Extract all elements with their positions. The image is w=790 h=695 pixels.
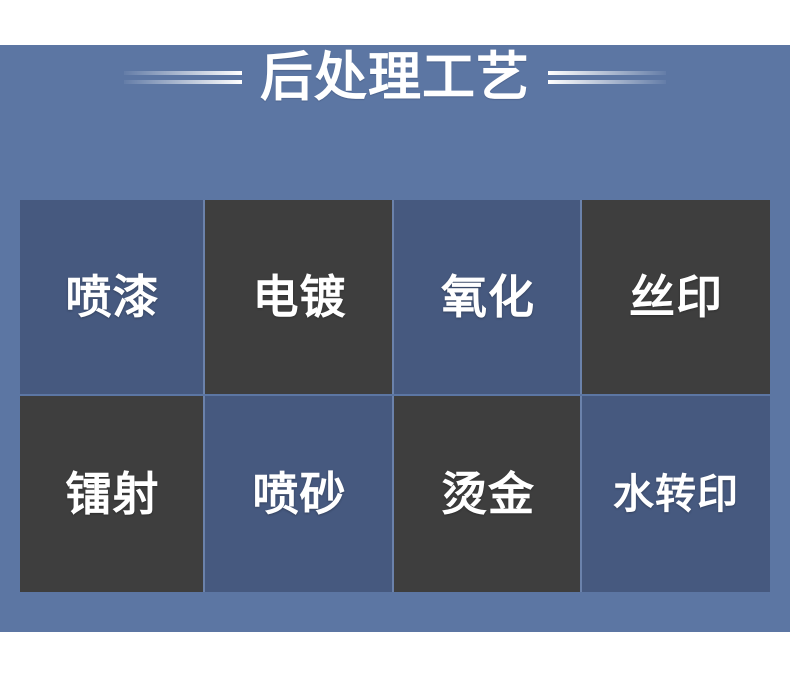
rule-line-top xyxy=(124,71,242,75)
process-tile[interactable]: 水转印 xyxy=(582,396,770,592)
process-tile-label: 喷漆 xyxy=(66,274,160,320)
process-tile[interactable]: 镭射 xyxy=(20,396,205,592)
poster-root: 后处理工艺 喷漆 电镀 氧化 丝印 镭射 喷砂 烫金 水转印 xyxy=(0,0,790,695)
header-banner: 后处理工艺 xyxy=(0,0,790,155)
process-tile-label: 水转印 xyxy=(613,474,739,515)
rule-line-top xyxy=(548,71,666,75)
double-line-right-icon xyxy=(548,69,666,87)
process-tile-label: 镭射 xyxy=(66,471,160,517)
process-tile[interactable]: 喷砂 xyxy=(205,396,394,592)
process-tile[interactable]: 烫金 xyxy=(394,396,582,592)
process-tile[interactable]: 喷漆 xyxy=(20,200,205,394)
process-tile-label: 电镀 xyxy=(253,274,347,320)
process-tile[interactable]: 电镀 xyxy=(205,200,394,394)
process-tile-label: 丝印 xyxy=(629,274,723,320)
process-tile-label: 喷砂 xyxy=(253,471,347,517)
process-tile[interactable]: 丝印 xyxy=(582,200,770,394)
process-tile[interactable]: 氧化 xyxy=(394,200,582,394)
process-tile-grid: 喷漆 电镀 氧化 丝印 镭射 喷砂 烫金 水转印 xyxy=(20,200,770,592)
page-title: 后处理工艺 xyxy=(260,51,530,104)
double-line-left-icon xyxy=(124,69,242,87)
process-tile-label: 氧化 xyxy=(441,274,535,320)
rule-line-bottom xyxy=(124,80,242,84)
rule-line-bottom xyxy=(548,80,666,84)
process-tile-label: 烫金 xyxy=(441,471,535,517)
